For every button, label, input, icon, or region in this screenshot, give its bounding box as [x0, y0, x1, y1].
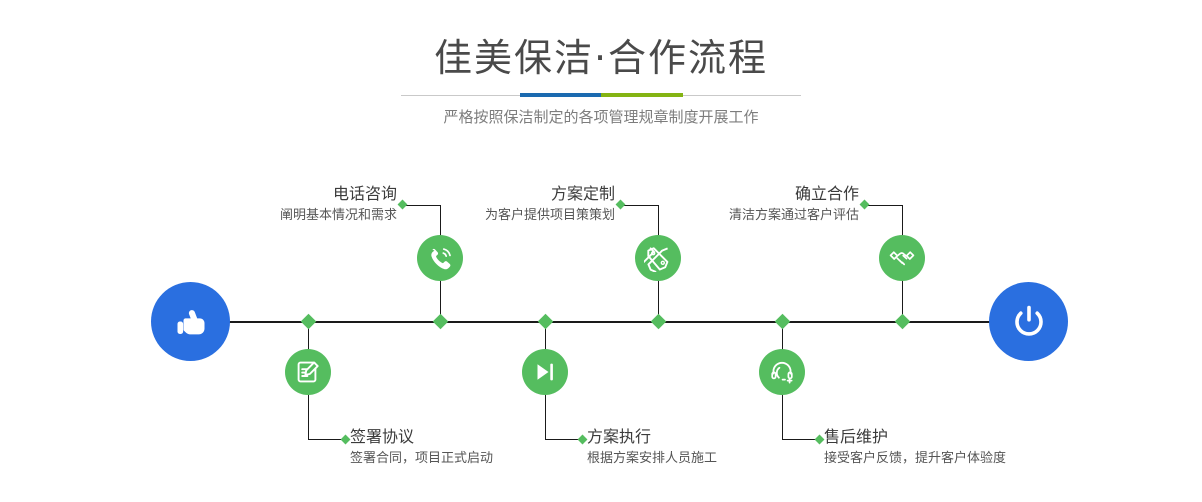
step-3-axis-marker [651, 314, 667, 330]
step-2-label: 签署协议 签署合同，项目正式启动 [350, 426, 600, 470]
title-divider [401, 93, 801, 97]
step-6-title: 售后维护 [824, 426, 1094, 448]
step-5-axis-marker [895, 314, 911, 330]
pencil-ruler-icon [644, 244, 672, 272]
step-5-icon-node[interactable] [879, 235, 925, 281]
step-3-icon-node[interactable] [635, 235, 681, 281]
timeline-start-node[interactable] [151, 282, 230, 361]
step-3-title: 方案定制 [376, 183, 615, 205]
step-6-axis-marker [775, 314, 791, 330]
step-6-desc: 接受客户反馈，提升客户体验度 [824, 448, 1094, 470]
step-2-title: 签署协议 [350, 426, 600, 448]
page-subtitle: 严格按照保洁制定的各项管理规章制度开展工作 [0, 105, 1202, 129]
play-execute-icon [531, 358, 559, 386]
customer-service-icon [768, 358, 796, 386]
timeline-end-node[interactable] [989, 282, 1068, 361]
handshake-icon [888, 244, 916, 272]
document-edit-icon [294, 358, 322, 386]
step-5-title: 确立合作 [620, 183, 859, 205]
step-1-title: 电话咨询 [159, 183, 397, 205]
divider-segment-green [601, 93, 683, 97]
phone-call-icon [426, 244, 454, 272]
step-4-desc: 根据方案安排人员施工 [587, 448, 837, 470]
step-4-label: 方案执行 根据方案安排人员施工 [587, 426, 837, 470]
divider-segment-blue [520, 93, 601, 97]
step-3-desc: 为客户提供项目策策划 [376, 205, 615, 227]
step-5-label: 确立合作 清洁方案通过客户评估 [620, 183, 859, 227]
step-6-label: 售后维护 接受客户反馈，提升客户体验度 [824, 426, 1094, 470]
page-header: 佳美保洁·合作流程 严格按照保洁制定的各项管理规章制度开展工作 [0, 0, 1202, 150]
step-4-axis-marker [538, 314, 554, 330]
step-1-label: 电话咨询 阐明基本情况和需求 [159, 183, 397, 227]
page-title: 佳美保洁·合作流程 [0, 34, 1202, 82]
step-2-axis-marker [301, 314, 317, 330]
pointing-hand-icon [170, 301, 212, 343]
step-6-icon-node[interactable] [759, 349, 805, 395]
step-5-arm [866, 205, 903, 206]
step-4-icon-node[interactable] [522, 349, 568, 395]
step-1-axis-marker [433, 314, 449, 330]
step-2-desc: 签署合同，项目正式启动 [350, 448, 600, 470]
step-2-lead-dot [341, 435, 351, 445]
process-timeline: 电话咨询 阐明基本情况和需求 签署协议 签署合同，项目正式启动 [0, 150, 1202, 502]
step-1-desc: 阐明基本情况和需求 [159, 205, 397, 227]
step-3-label: 方案定制 为客户提供项目策策划 [376, 183, 615, 227]
step-2-icon-node[interactable] [285, 349, 331, 395]
step-5-lead-dot [860, 200, 870, 210]
step-1-icon-node[interactable] [417, 235, 463, 281]
power-icon [1007, 300, 1051, 344]
step-4-title: 方案执行 [587, 426, 837, 448]
step-5-desc: 清洁方案通过客户评估 [620, 205, 859, 227]
